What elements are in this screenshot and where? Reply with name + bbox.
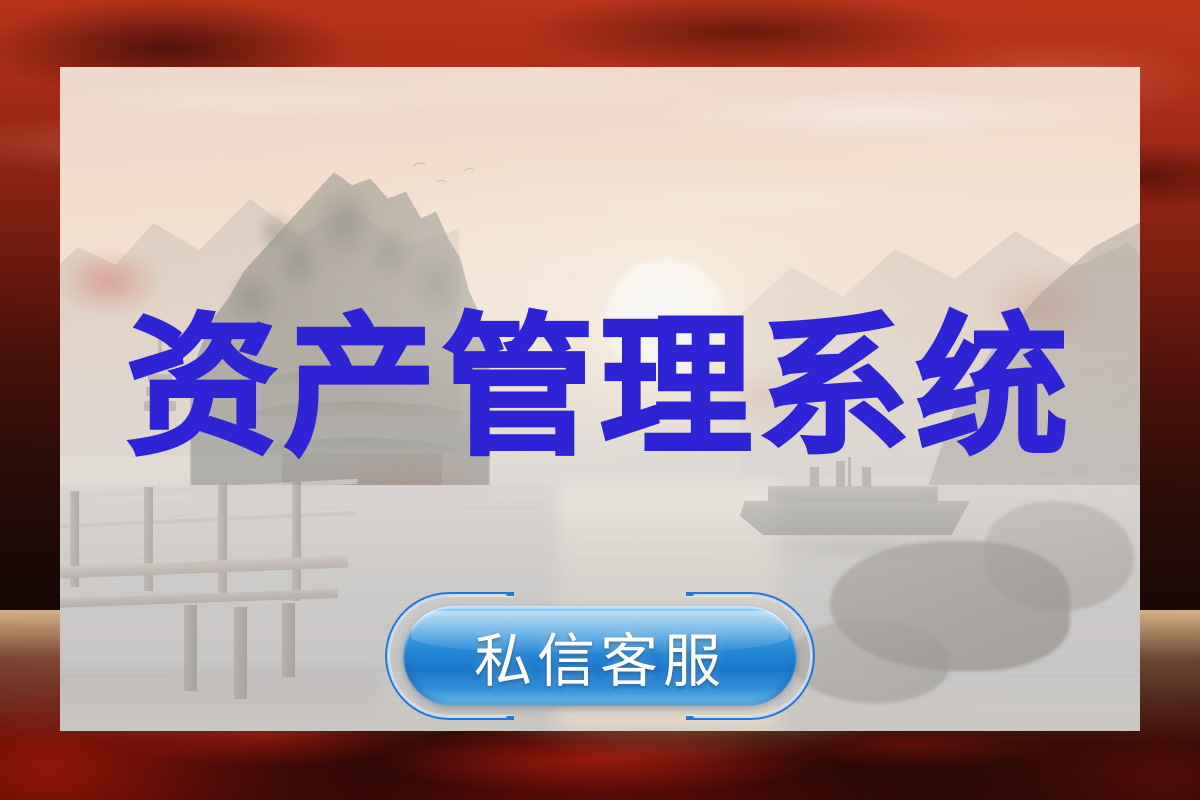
- pier-railing-mid: [60, 511, 354, 529]
- pier-post: [292, 481, 301, 601]
- ship-icon: [740, 467, 970, 535]
- hero-banner: ︵ ︵ ︵: [0, 0, 1200, 800]
- wooden-pier: [60, 481, 408, 731]
- ship-railing: [882, 473, 969, 513]
- bird-icon: ︵: [436, 173, 448, 185]
- page-title: 资产管理系统: [0, 306, 1200, 470]
- cta-button-container[interactable]: 私信客服: [385, 592, 815, 720]
- pier-post: [218, 483, 227, 595]
- bird-icon: ︵: [464, 163, 475, 174]
- pier-shadow: [60, 671, 378, 731]
- pier-piling: [282, 603, 295, 677]
- cta-button-label: 私信客服: [474, 614, 726, 698]
- pier-deck-lower: [60, 589, 338, 608]
- pier-deck: [60, 555, 348, 579]
- bird-icon: ︵: [411, 154, 426, 169]
- pier-post: [144, 487, 153, 591]
- rock-formation: [984, 501, 1134, 611]
- pier-railing-top: [60, 479, 358, 500]
- contact-support-button[interactable]: 私信客服: [403, 606, 797, 706]
